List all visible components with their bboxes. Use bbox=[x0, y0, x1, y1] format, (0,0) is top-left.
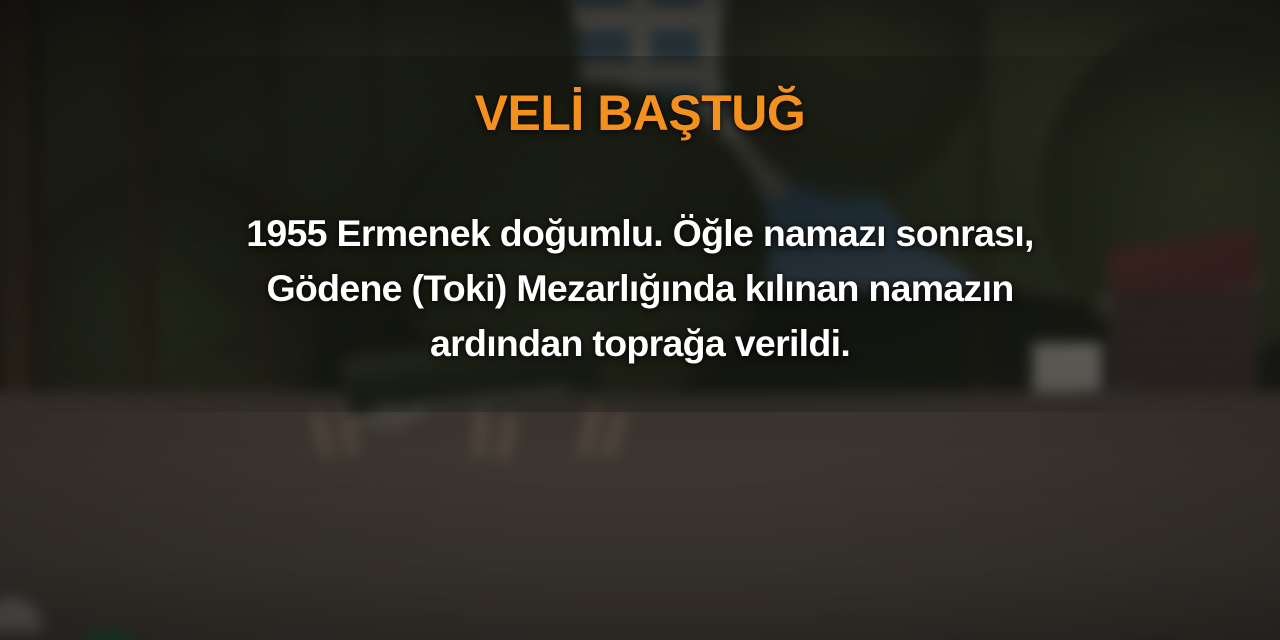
text-content: VELİ BAŞTUĞ 1955 Ermenek doğumlu. Öğle n… bbox=[0, 0, 1280, 640]
description-line-2: Gödene (Toki) Mezarlığında kılınan namaz… bbox=[185, 261, 1095, 316]
deceased-name-title: VELİ BAŞTUĞ bbox=[475, 88, 806, 138]
description-line-1: 1955 Ermenek doğumlu. Öğle namazı sonras… bbox=[185, 206, 1095, 261]
obituary-description: 1955 Ermenek doğumlu. Öğle namazı sonras… bbox=[185, 206, 1095, 371]
memorial-card: KONYA BÜYÜKŞEHİR BELEDİYESİ KONYA BÜYÜKŞ… bbox=[0, 0, 1280, 640]
description-line-3: ardından toprağa verildi. bbox=[185, 316, 1095, 371]
